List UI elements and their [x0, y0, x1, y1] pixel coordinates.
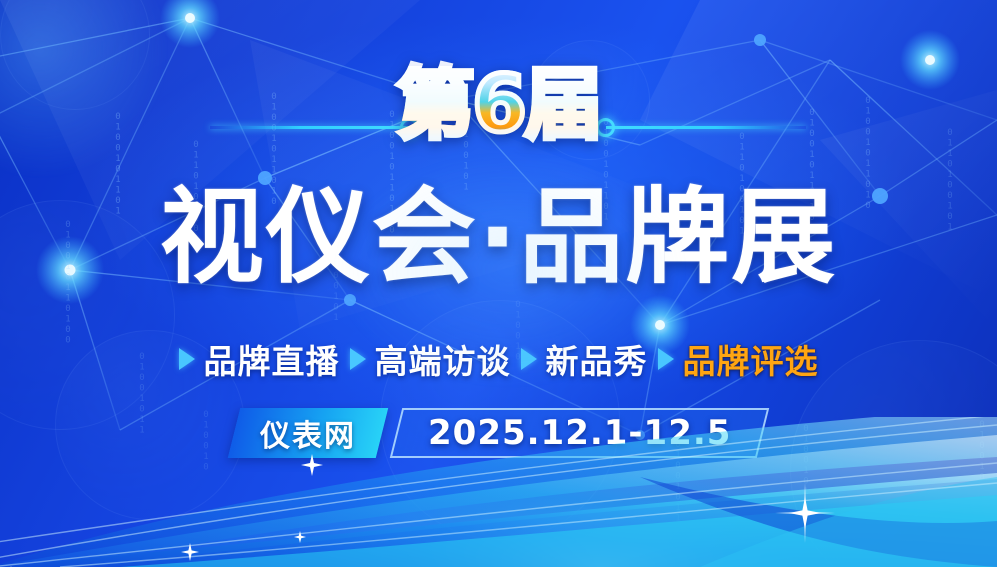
play-triangle-icon — [350, 348, 366, 370]
play-triangle-icon — [179, 348, 195, 370]
tag-label: 品牌评选 — [683, 335, 819, 383]
tag-label: 品牌直播 — [204, 335, 340, 383]
play-triangle-icon — [658, 348, 674, 370]
tag-item-awards[interactable]: 品牌评选 — [658, 335, 819, 383]
promo-banner: 010010110100 0100101101 01001011 0110100… — [0, 0, 997, 567]
wave-ribbons — [0, 417, 997, 567]
ambient-glow-center — [330, 150, 690, 390]
tag-item-live[interactable]: 品牌直播 — [179, 335, 340, 383]
